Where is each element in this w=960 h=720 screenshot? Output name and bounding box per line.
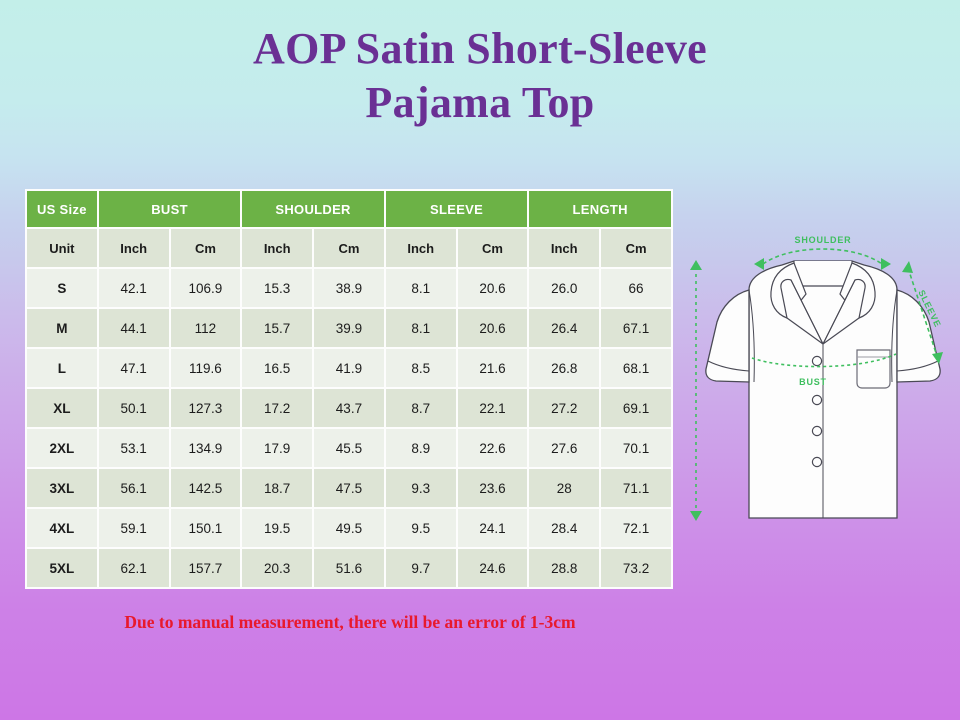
table-body: S42.1106.915.338.98.120.626.066M44.11121… xyxy=(27,269,671,587)
shoulder-label: SHOULDER xyxy=(795,235,852,245)
sleeve-arrow-top-icon xyxy=(902,261,913,273)
table-cell-size: M xyxy=(27,309,97,347)
table-cell-value: 21.6 xyxy=(458,349,528,387)
table-cell-value: 16.5 xyxy=(242,349,312,387)
garment-diagram: SHOULDER SLEEVE BUST LENGTH xyxy=(686,230,960,540)
table-cell-value: 50.1 xyxy=(99,389,169,427)
table-cell-value: 26.0 xyxy=(529,269,599,307)
table-cell-value: 41.9 xyxy=(314,349,384,387)
table-cell-value: 24.6 xyxy=(458,549,528,587)
table-row: 2XL53.1134.917.945.58.922.627.670.1 xyxy=(27,429,671,467)
page-title: AOP Satin Short-Sleeve Pajama Top xyxy=(0,22,960,129)
button-3 xyxy=(812,426,821,435)
table-cell-value: 134.9 xyxy=(171,429,241,467)
column-group-us-size: US Size xyxy=(27,191,97,227)
table-cell-value: 15.7 xyxy=(242,309,312,347)
button-4 xyxy=(812,457,821,466)
table-cell-value: 28 xyxy=(529,469,599,507)
measurement-disclaimer: Due to manual measurement, there will be… xyxy=(0,612,700,633)
table-row: 5XL62.1157.720.351.69.724.628.873.2 xyxy=(27,549,671,587)
table-cell-value: 15.3 xyxy=(242,269,312,307)
unit-header-label: Unit xyxy=(27,229,97,267)
table-cell-value: 20.6 xyxy=(458,309,528,347)
table-cell-value: 51.6 xyxy=(314,549,384,587)
chest-pocket-icon xyxy=(857,350,890,388)
length-arrow-down-icon xyxy=(690,511,702,521)
table-cell-size: 3XL xyxy=(27,469,97,507)
table-cell-value: 17.2 xyxy=(242,389,312,427)
table-cell-value: 42.1 xyxy=(99,269,169,307)
table-cell-value: 72.1 xyxy=(601,509,671,547)
page-title-line-2: Pajama Top xyxy=(0,76,960,130)
unit-header-length-inch: Inch xyxy=(529,229,599,267)
size-chart-table: US Size BUST SHOULDER SLEEVE LENGTH Unit… xyxy=(25,189,673,589)
table-row: L47.1119.616.541.98.521.626.868.1 xyxy=(27,349,671,387)
table-cell-size: 5XL xyxy=(27,549,97,587)
page-title-line-1: AOP Satin Short-Sleeve xyxy=(253,24,707,73)
table-cell-value: 112 xyxy=(171,309,241,347)
table-cell-value: 53.1 xyxy=(99,429,169,467)
table-cell-value: 38.9 xyxy=(314,269,384,307)
table-cell-value: 157.7 xyxy=(171,549,241,587)
unit-header-bust-cm: Cm xyxy=(171,229,241,267)
table-row: 3XL56.1142.518.747.59.323.62871.1 xyxy=(27,469,671,507)
unit-header-length-cm: Cm xyxy=(601,229,671,267)
table-cell-value: 150.1 xyxy=(171,509,241,547)
shoulder-arrow-left-icon xyxy=(754,258,764,270)
table-cell-value: 106.9 xyxy=(171,269,241,307)
table-cell-size: XL xyxy=(27,389,97,427)
table-cell-size: L xyxy=(27,349,97,387)
unit-header-shoulder-inch: Inch xyxy=(242,229,312,267)
table-cell-value: 8.9 xyxy=(386,429,456,467)
unit-header-bust-inch: Inch xyxy=(99,229,169,267)
column-group-shoulder: SHOULDER xyxy=(242,191,384,227)
table-cell-value: 8.7 xyxy=(386,389,456,427)
table-cell-value: 28.4 xyxy=(529,509,599,547)
table-cell-value: 19.5 xyxy=(242,509,312,547)
unit-header-sleeve-cm: Cm xyxy=(458,229,528,267)
table-cell-value: 47.5 xyxy=(314,469,384,507)
garment-illustration xyxy=(706,261,940,518)
table-row: 4XL59.1150.119.549.59.524.128.472.1 xyxy=(27,509,671,547)
table-cell-value: 8.1 xyxy=(386,269,456,307)
length-arrow-up-icon xyxy=(690,260,702,270)
table-row: S42.1106.915.338.98.120.626.066 xyxy=(27,269,671,307)
table-cell-value: 26.4 xyxy=(529,309,599,347)
unit-header-sleeve-inch: Inch xyxy=(386,229,456,267)
table-row: M44.111215.739.98.120.626.467.1 xyxy=(27,309,671,347)
table-cell-value: 47.1 xyxy=(99,349,169,387)
table-cell-value: 28.8 xyxy=(529,549,599,587)
table-cell-value: 9.5 xyxy=(386,509,456,547)
table-cell-value: 56.1 xyxy=(99,469,169,507)
shoulder-arrow-right-icon xyxy=(881,258,891,270)
table-cell-value: 22.6 xyxy=(458,429,528,467)
table-cell-value: 26.8 xyxy=(529,349,599,387)
column-group-length: LENGTH xyxy=(529,191,671,227)
table-head: US Size BUST SHOULDER SLEEVE LENGTH Unit… xyxy=(27,191,671,267)
table-cell-value: 45.5 xyxy=(314,429,384,467)
table-cell-value: 142.5 xyxy=(171,469,241,507)
column-group-bust: BUST xyxy=(99,191,241,227)
table-cell-value: 27.6 xyxy=(529,429,599,467)
table-cell-size: S xyxy=(27,269,97,307)
table-cell-size: 4XL xyxy=(27,509,97,547)
table-cell-value: 119.6 xyxy=(171,349,241,387)
table-cell-value: 59.1 xyxy=(99,509,169,547)
table-cell-value: 68.1 xyxy=(601,349,671,387)
column-group-sleeve: SLEEVE xyxy=(386,191,528,227)
table-cell-value: 27.2 xyxy=(529,389,599,427)
table-group-header-row: US Size BUST SHOULDER SLEEVE LENGTH xyxy=(27,191,671,227)
table-cell-value: 69.1 xyxy=(601,389,671,427)
table-cell-value: 8.5 xyxy=(386,349,456,387)
bust-label: BUST xyxy=(799,377,827,387)
table-cell-size: 2XL xyxy=(27,429,97,467)
table-cell-value: 71.1 xyxy=(601,469,671,507)
table-unit-header-row: Unit Inch Cm Inch Cm Inch Cm Inch Cm xyxy=(27,229,671,267)
table-cell-value: 127.3 xyxy=(171,389,241,427)
table-cell-value: 67.1 xyxy=(601,309,671,347)
table-cell-value: 9.3 xyxy=(386,469,456,507)
table-cell-value: 43.7 xyxy=(314,389,384,427)
table-cell-value: 62.1 xyxy=(99,549,169,587)
button-1 xyxy=(812,356,821,365)
table-cell-value: 9.7 xyxy=(386,549,456,587)
table-cell-value: 49.5 xyxy=(314,509,384,547)
table-cell-value: 66 xyxy=(601,269,671,307)
table-cell-value: 39.9 xyxy=(314,309,384,347)
table-cell-value: 8.1 xyxy=(386,309,456,347)
table-cell-value: 73.2 xyxy=(601,549,671,587)
table-row: XL50.1127.317.243.78.722.127.269.1 xyxy=(27,389,671,427)
table-cell-value: 20.6 xyxy=(458,269,528,307)
unit-header-shoulder-cm: Cm xyxy=(314,229,384,267)
table-cell-value: 70.1 xyxy=(601,429,671,467)
table-cell-value: 24.1 xyxy=(458,509,528,547)
table-cell-value: 44.1 xyxy=(99,309,169,347)
table-cell-value: 17.9 xyxy=(242,429,312,467)
table-cell-value: 22.1 xyxy=(458,389,528,427)
button-2 xyxy=(812,395,821,404)
table-cell-value: 18.7 xyxy=(242,469,312,507)
table-cell-value: 23.6 xyxy=(458,469,528,507)
table-cell-value: 20.3 xyxy=(242,549,312,587)
